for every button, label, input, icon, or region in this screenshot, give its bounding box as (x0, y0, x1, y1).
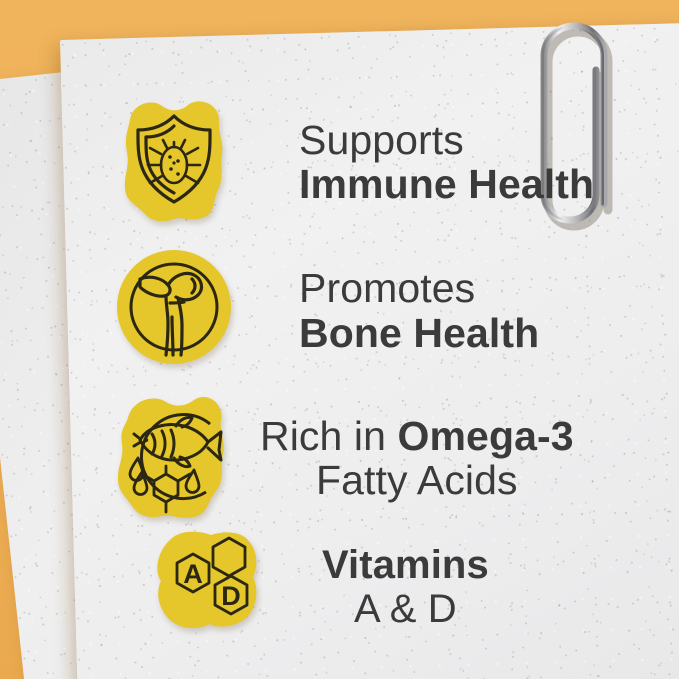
hexagon-vitamins-a-d-icon: A D (135, 525, 280, 650)
benefit-row-vitamins: A D Vitamins A & D (135, 525, 489, 650)
hexagon-label-a: A (183, 559, 203, 589)
benefit-line2-bone: Bone Health (299, 311, 539, 355)
benefit-line1-vitamins: Vitamins (322, 544, 489, 587)
fish-omega-molecule-icon (108, 388, 238, 528)
benefit-line1-omega-prefix: Rich in (260, 413, 398, 459)
benefit-line1-omega: Rich in Omega-3 (260, 414, 574, 458)
infographic-canvas: Supports Immune Health (0, 0, 679, 679)
shield-with-germ-icon (112, 92, 237, 232)
benefit-row-immune: Supports Immune Health (112, 92, 594, 232)
knee-joint-bone-icon (112, 243, 237, 378)
benefit-row-omega: Rich in Omega-3 Fatty Acids (108, 388, 574, 528)
benefit-line2-immune: Immune Health (299, 162, 594, 206)
benefit-list: Supports Immune Health (0, 0, 679, 679)
benefit-line2-vitamins: A & D (322, 588, 489, 631)
benefit-line1-omega-emphasis: Omega-3 (398, 413, 574, 459)
benefit-caption-bone: Promotes Bone Health (299, 266, 539, 355)
benefit-line1-bone: Promotes (299, 266, 539, 310)
benefit-caption-omega: Rich in Omega-3 Fatty Acids (260, 414, 574, 503)
benefit-caption-vitamins: Vitamins A & D (322, 544, 489, 630)
benefit-row-bone: Promotes Bone Health (112, 243, 539, 378)
benefit-caption-immune: Supports Immune Health (299, 118, 594, 207)
hexagon-label-d: D (221, 581, 241, 611)
benefit-line2-omega: Fatty Acids (260, 458, 574, 502)
benefit-line1-immune: Supports (299, 118, 594, 162)
